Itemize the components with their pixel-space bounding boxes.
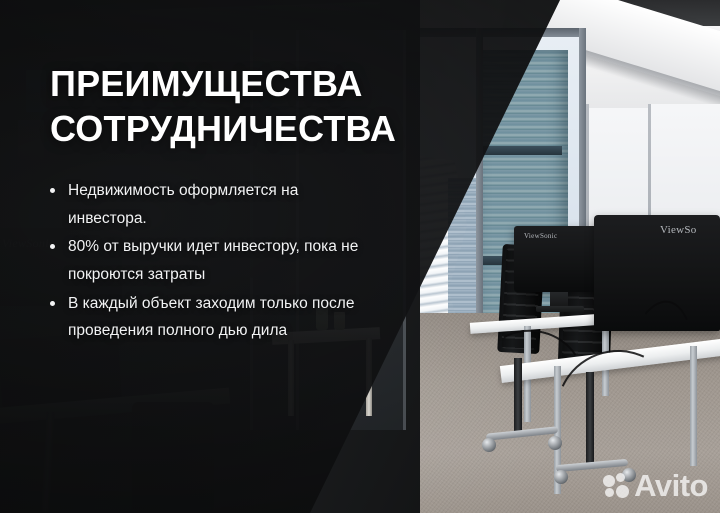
benefits-list: Недвижимость оформляется на инвестора. 8…	[50, 177, 370, 344]
list-item: 80% от выручки идет инвестору, пока не п…	[50, 233, 370, 288]
list-item: В каждый объект заходим только после про…	[50, 290, 370, 345]
chair-caster	[548, 436, 562, 450]
page-title: ПРЕИМУЩЕСТВА СОТРУДНИЧЕСТВА	[50, 62, 370, 151]
avito-dot	[603, 475, 615, 487]
avito-dot	[616, 485, 629, 498]
list-item: Недвижимость оформляется на инвестора.	[50, 177, 370, 232]
monitor-brand-label: ViewSonic	[524, 232, 557, 240]
slide: ViewSonic ViewSo	[0, 0, 720, 513]
avito-dot	[605, 488, 614, 497]
avito-dots-icon	[603, 473, 629, 499]
avito-wordmark: Avito	[634, 470, 708, 501]
avito-dot	[616, 473, 625, 482]
tower-band	[476, 146, 562, 155]
text-content: ПРЕИМУЩЕСТВА СОТРУДНИЧЕСТВА Недвижимость…	[50, 62, 370, 346]
monitor-stand-base	[536, 306, 584, 312]
avito-watermark: Avito	[603, 470, 708, 501]
monitor-brand-label: ViewSo	[660, 224, 697, 236]
chair-caster	[482, 438, 496, 452]
chair-caster	[554, 470, 568, 484]
